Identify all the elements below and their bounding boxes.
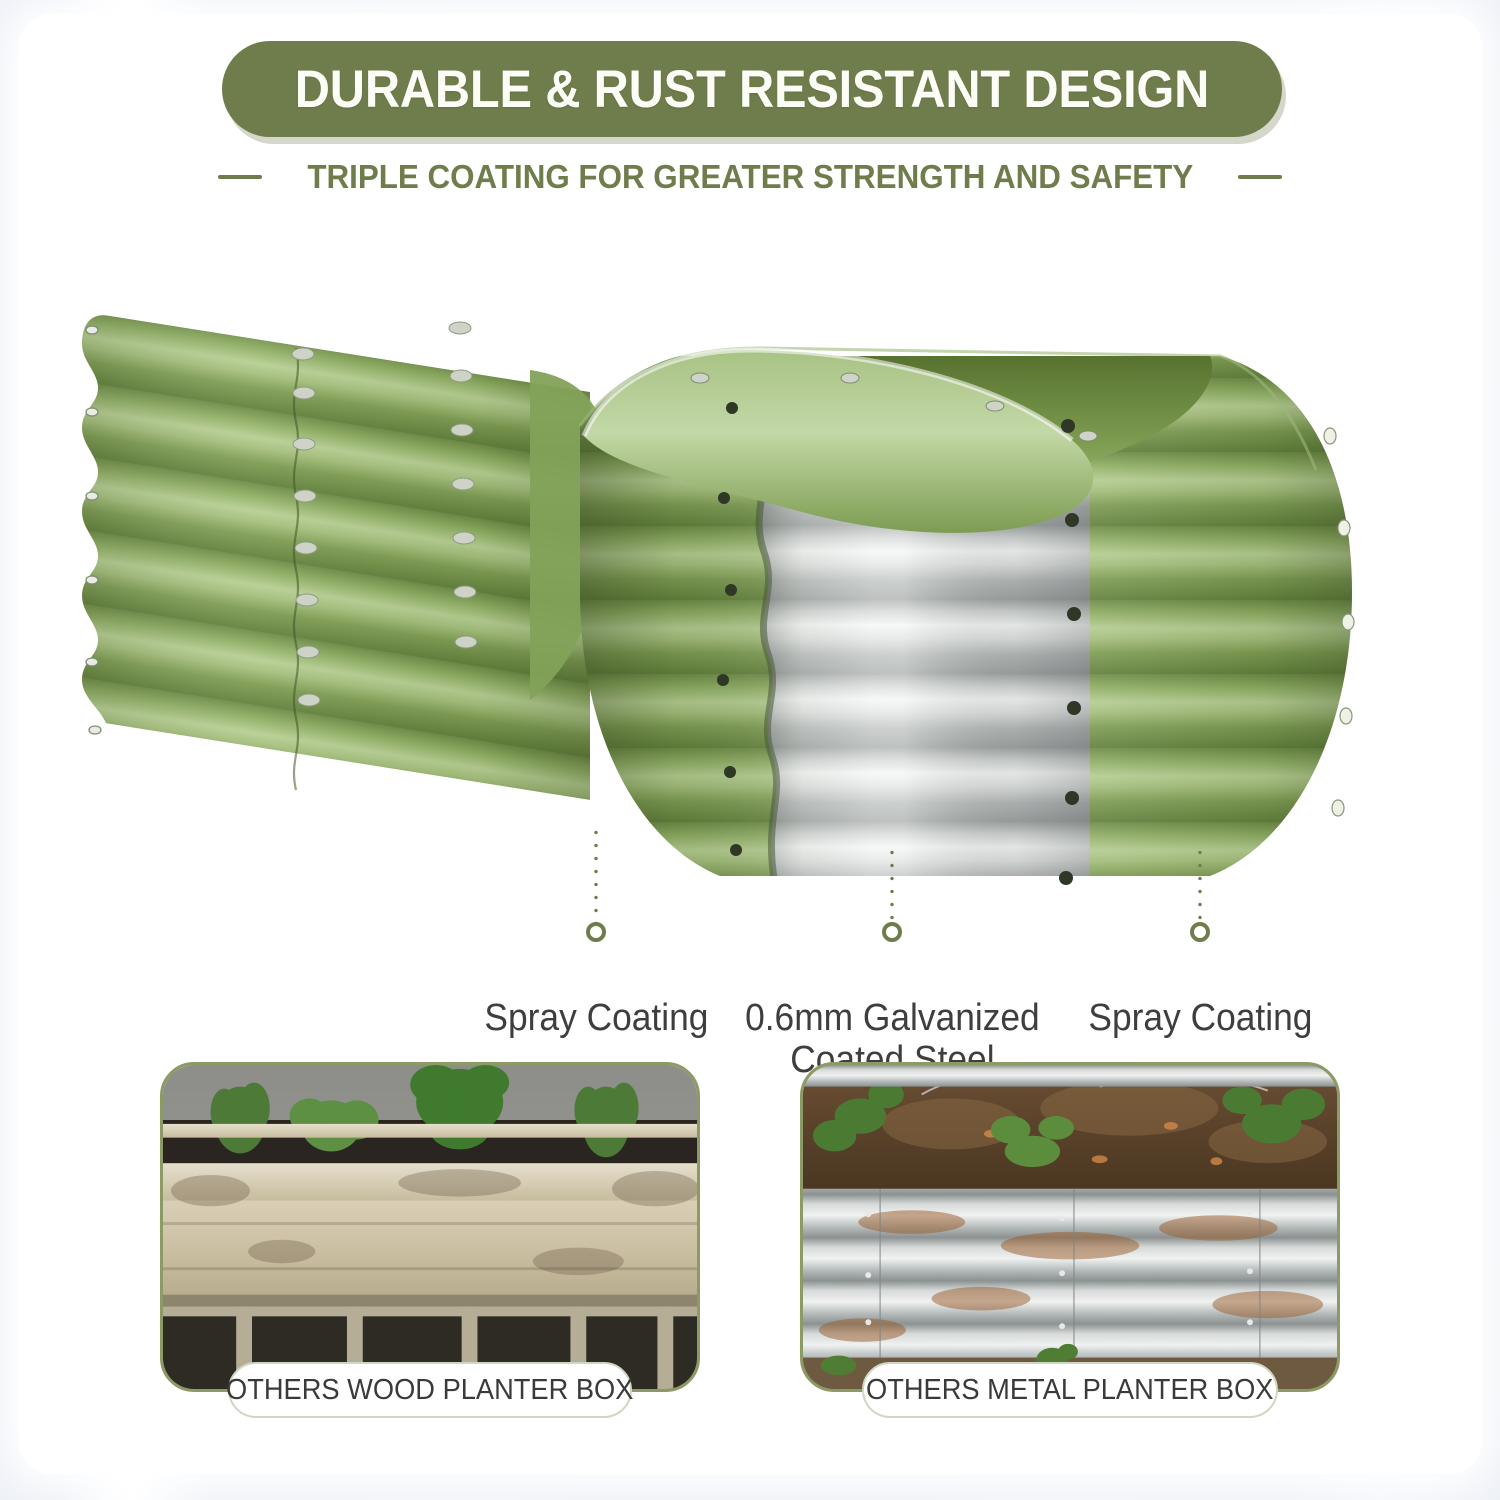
dotted-leader-icon [1198,846,1202,924]
horizontal-dash-icon-left [218,175,262,179]
page-title: DURABLE & RUST RESISTANT DESIGN [295,59,1209,120]
infographic-page: DURABLE & RUST RESISTANT DESIGN TRIPLE C… [0,0,1500,1500]
metal-planter-photo [803,1065,1337,1389]
dotted-leader-icon [594,826,598,924]
page-subtitle: TRIPLE COATING FOR GREATER STRENGTH AND … [307,158,1193,196]
circle-marker-icon [1190,922,1210,942]
caption-pill-metal: OTHERS METAL PLANTER BOX [862,1362,1278,1418]
subtitle-row: TRIPLE COATING FOR GREATER STRENGTH AND … [0,158,1500,196]
dotted-leader-icon [890,846,894,924]
comparison-card-wood [160,1062,700,1392]
wood-planter-photo [163,1065,697,1389]
circle-marker-icon [882,922,902,942]
comparison-card-metal [800,1062,1340,1392]
header-banner: DURABLE & RUST RESISTANT DESIGN [222,41,1282,137]
hero-product-illustration [60,230,1440,920]
caption-pill-wood: OTHERS WOOD PLANTER BOX [228,1362,632,1418]
planter-drum [560,330,1380,900]
horizontal-dash-icon-right [1238,175,1282,179]
callout-label: Spray Coating [1035,954,1365,1039]
product-svg [60,230,1440,920]
circle-marker-icon [586,922,606,942]
